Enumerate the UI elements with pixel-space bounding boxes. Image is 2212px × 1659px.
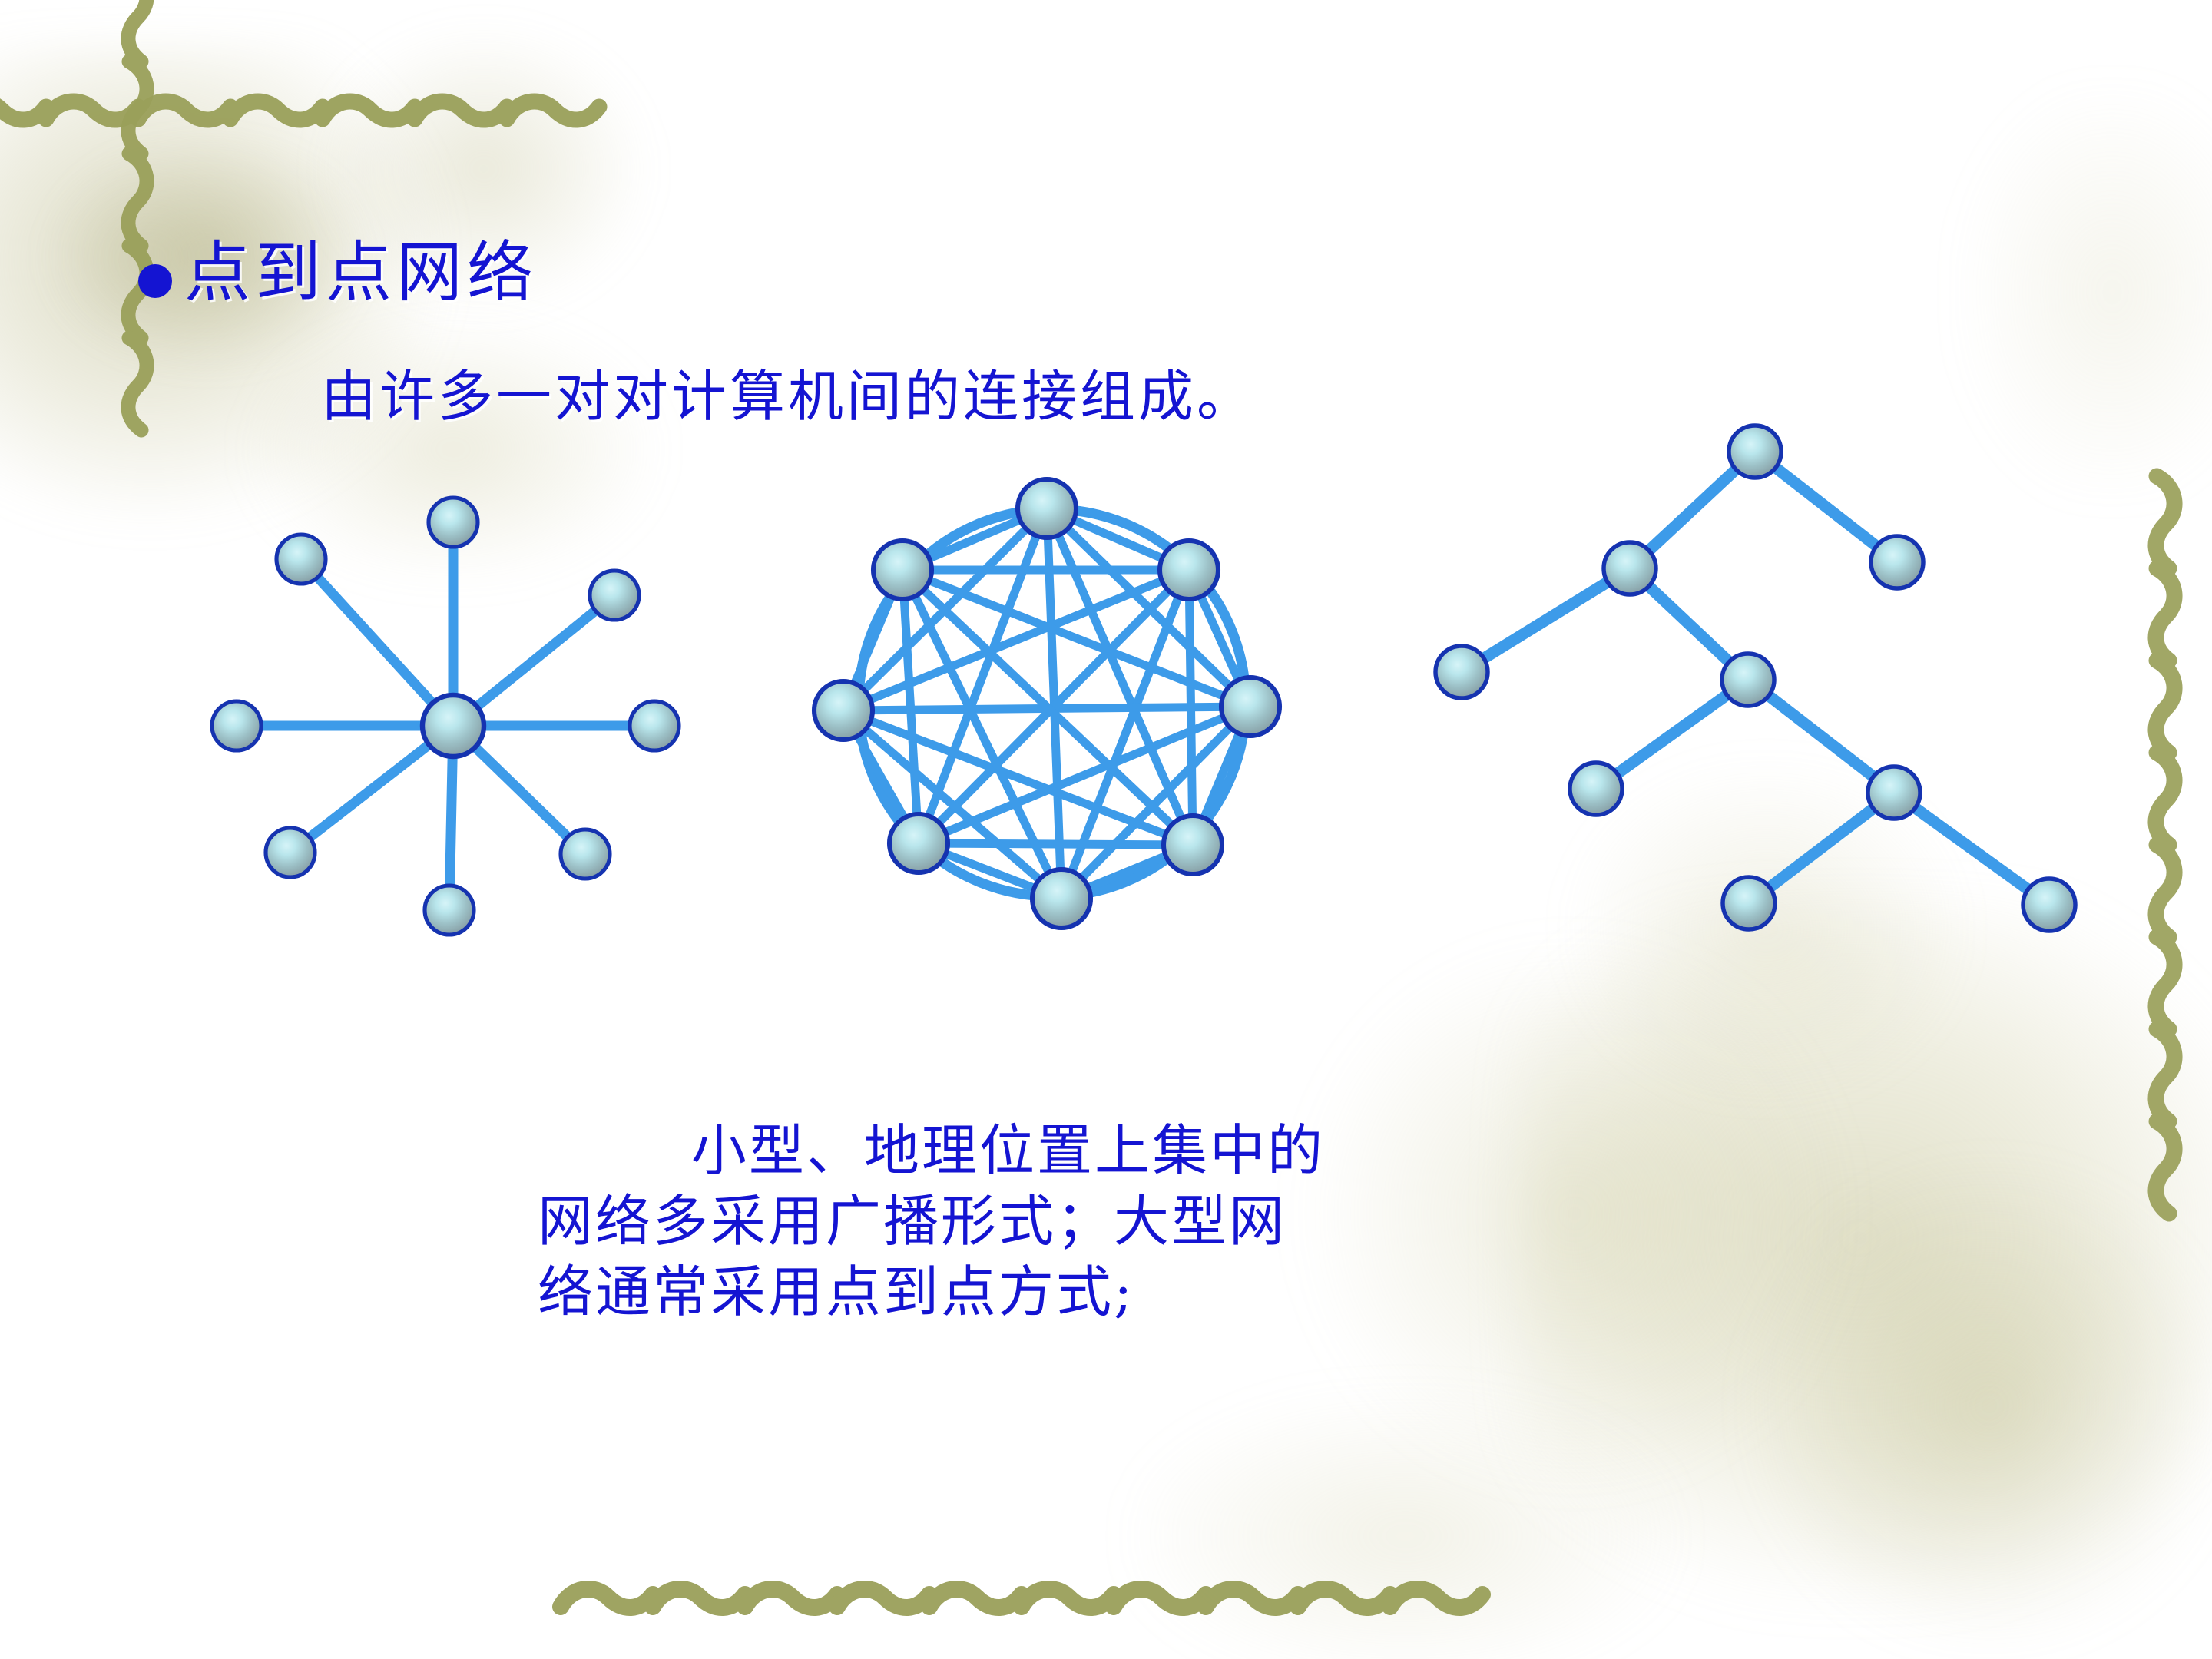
star-leaf-node	[630, 701, 679, 750]
star-leaf-node	[561, 829, 610, 879]
star-leaf-node	[212, 701, 261, 750]
tree-node	[1723, 877, 1775, 929]
bottom-note-line-1: 小型、地理位置上集中的	[538, 1115, 1325, 1186]
tree-node	[1868, 767, 1920, 819]
tree-node	[1729, 426, 1781, 478]
star-hub-node	[422, 695, 484, 757]
subtitle-label: 由许多一对对计算机间的连接组成。	[321, 369, 1255, 424]
tree-node	[2023, 879, 2075, 931]
star-leaf-node	[266, 828, 315, 877]
slide-canvas: 点到点网络 由许多一对对计算机间的连接组成。 小型、地理位置上集中的 网络多采用…	[0, 0, 2212, 1659]
mesh-node	[814, 681, 873, 740]
star-leaf-node	[276, 535, 326, 584]
tree-node	[1570, 763, 1622, 815]
tree-node	[1435, 646, 1488, 698]
tree-node	[1722, 654, 1774, 706]
bottom-note-line-3: 络通常采用点到点方式;	[538, 1257, 1325, 1327]
title-label: 点到点网络	[184, 240, 538, 306]
mesh-node	[1164, 816, 1222, 874]
tree-link	[1462, 568, 1630, 672]
tree-node	[1871, 536, 1923, 588]
star-leaf-node	[590, 571, 639, 620]
tree-link	[1894, 793, 2049, 905]
mesh-node	[873, 541, 932, 599]
tree-node	[1604, 542, 1656, 594]
mesh-node	[889, 814, 948, 873]
mesh-node	[1221, 677, 1280, 736]
star-leaf-node	[429, 498, 478, 547]
bottom-note-line-2: 网络多采用广播形式；大型网	[538, 1186, 1325, 1257]
mesh-node	[1018, 479, 1076, 538]
star-leaf-node	[425, 886, 474, 935]
mesh-node	[1160, 541, 1218, 599]
star-link	[301, 559, 453, 726]
mesh-link	[919, 843, 1193, 845]
mesh-node	[1032, 869, 1091, 928]
bullet-dot-icon	[138, 264, 172, 298]
bottom-note: 小型、地理位置上集中的 网络多采用广播形式；大型网 络通常采用点到点方式;	[538, 1115, 1325, 1327]
page-title: 点到点网络	[138, 240, 538, 306]
